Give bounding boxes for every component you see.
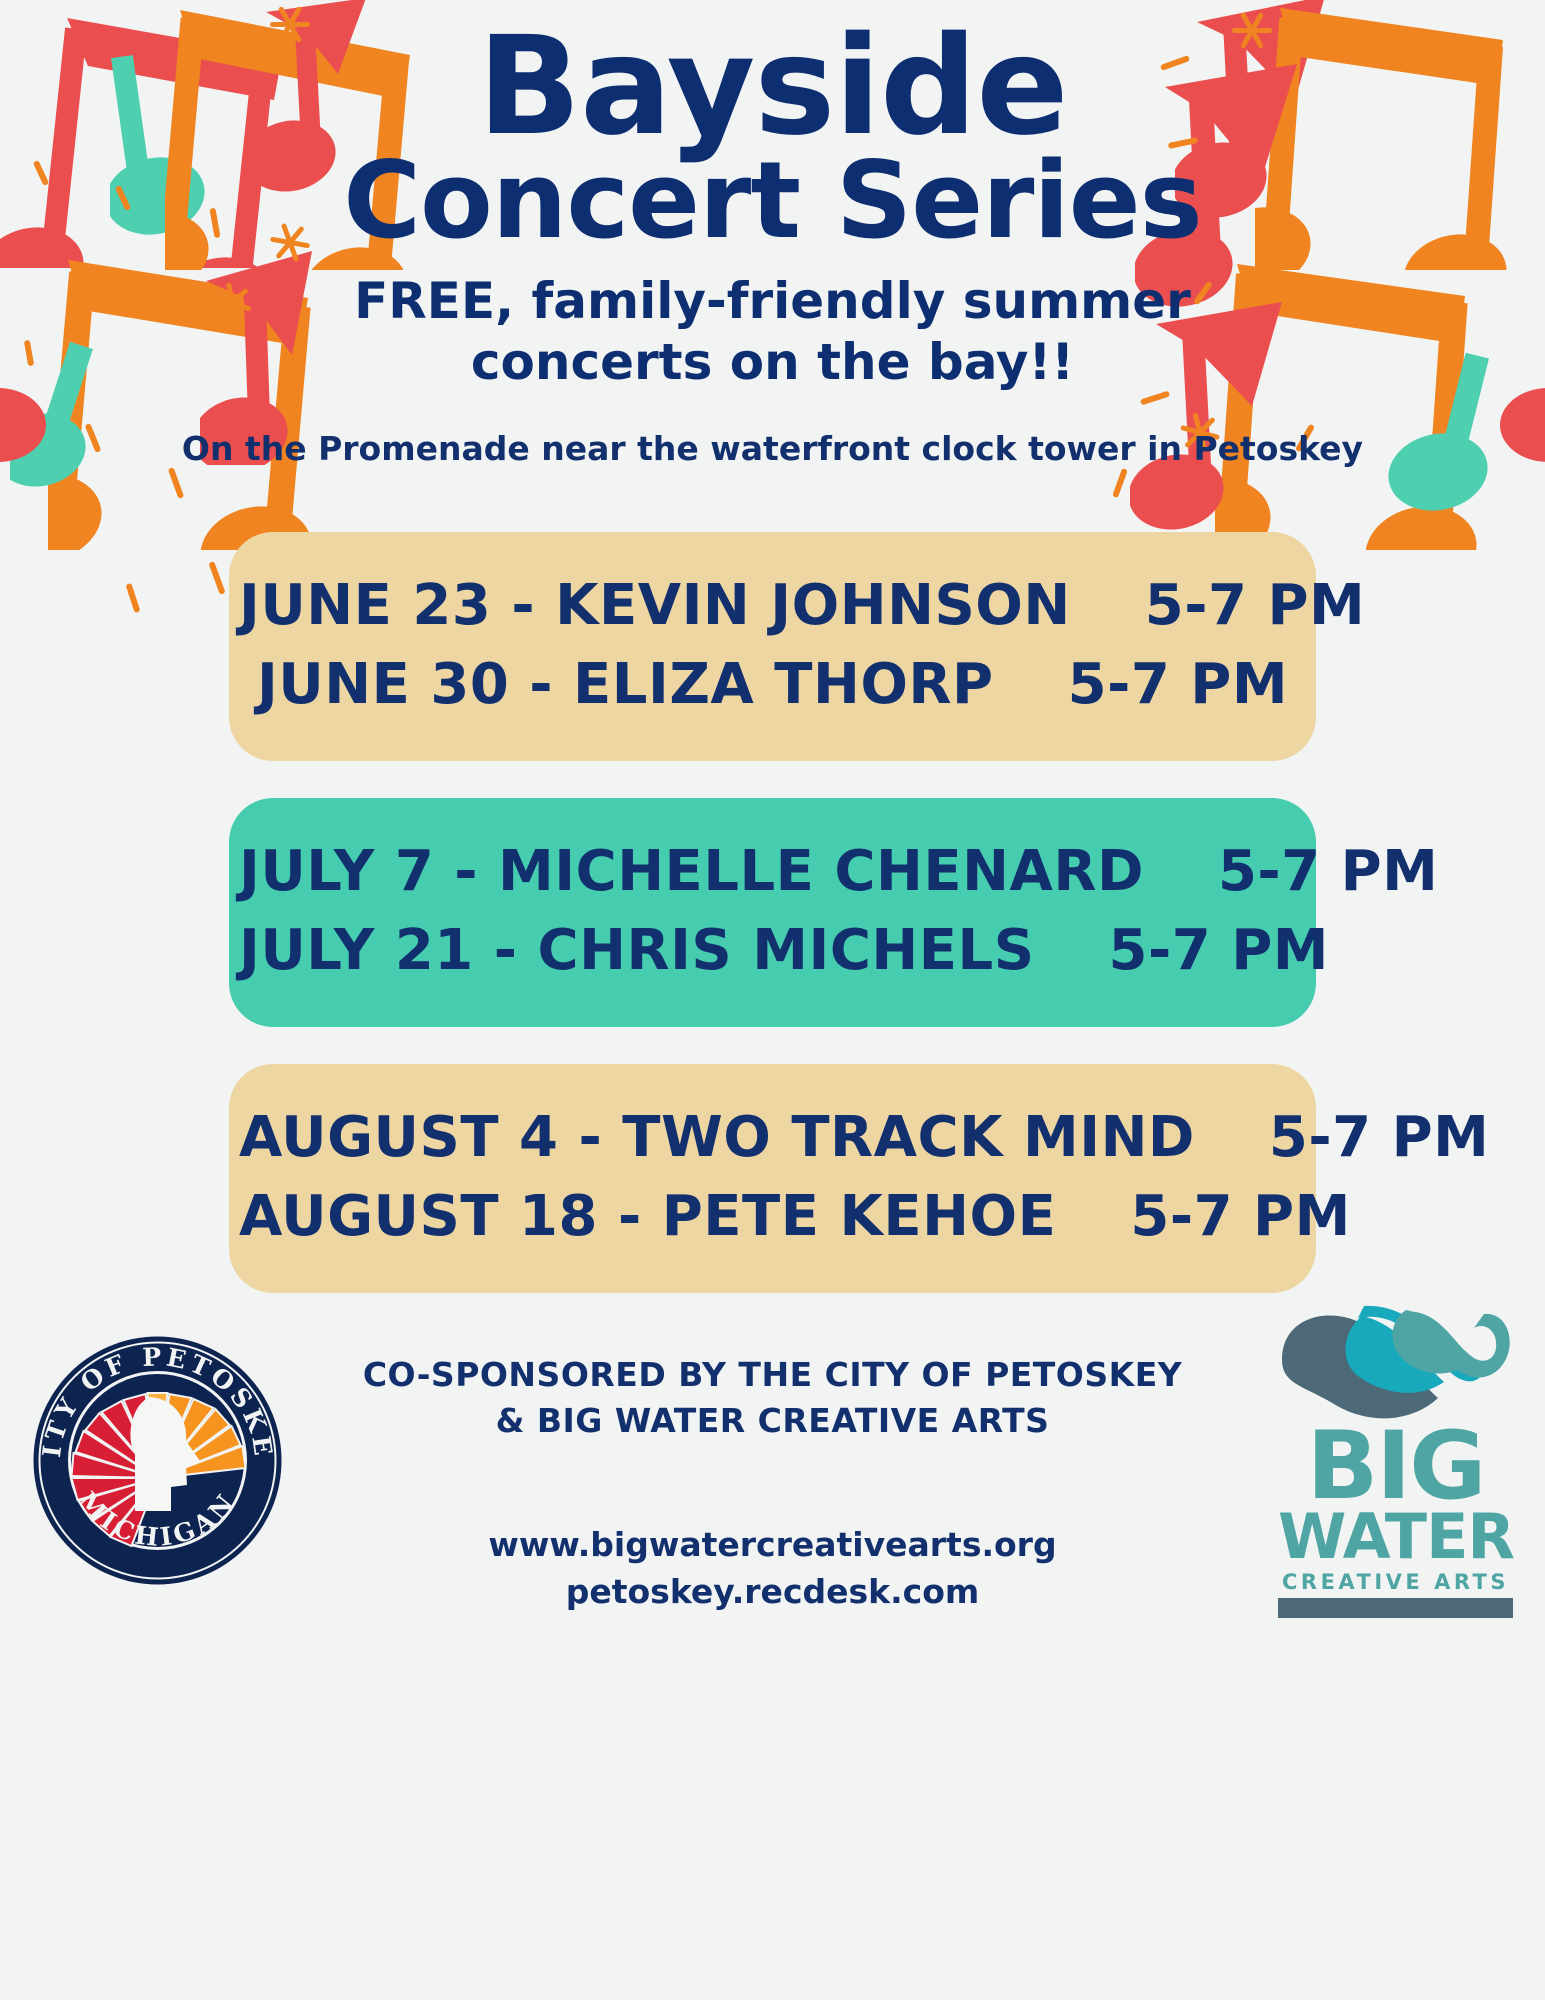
- concert-separator: -: [579, 1105, 603, 1170]
- schedule-block-august: AUGUST 4 - TWO TRACK MIND 5-7 PM AUGUST …: [229, 1064, 1316, 1293]
- concert-time: 5-7 PM: [1109, 918, 1329, 983]
- page-title-line1: Bayside: [0, 22, 1545, 153]
- big-water-wave-icon: [1278, 1300, 1513, 1428]
- schedule-row: AUGUST 18 - PETE KEHOE 5-7 PM: [239, 1177, 1306, 1257]
- schedule-row: JULY 7 - MICHELLE CHENARD 5-7 PM: [239, 832, 1306, 912]
- concert-separator: -: [454, 839, 478, 904]
- subtitle-line1: FREE, family-friendly summer: [0, 271, 1545, 332]
- concert-artist: PETE KEHOE: [662, 1184, 1057, 1249]
- concert-time: 5-7 PM: [1130, 1184, 1350, 1249]
- concert-separator: -: [511, 573, 535, 638]
- concert-separator: -: [618, 1184, 642, 1249]
- concert-separator: -: [494, 918, 518, 983]
- schedule-row: JUNE 30 - ELIZA THORP 5-7 PM: [239, 645, 1306, 725]
- concert-date: JULY 21: [239, 918, 474, 983]
- big-water-logo-word2: WATER: [1278, 1507, 1513, 1567]
- schedule-block-june: JUNE 23 - KEVIN JOHNSON 5-7 PM JUNE 30 -…: [229, 532, 1316, 761]
- concert-date: JUNE 23: [239, 573, 491, 638]
- concert-time: 5-7 PM: [1145, 573, 1365, 638]
- big-water-logo-word1: BIG: [1278, 1428, 1513, 1505]
- poster-header: Bayside Concert Series FREE, family-frie…: [0, 0, 1545, 468]
- concert-date: AUGUST 4: [239, 1105, 559, 1170]
- concert-time: 5-7 PM: [1269, 1105, 1489, 1170]
- decor-tick-7: [168, 467, 185, 499]
- concert-artist: CHRIS MICHELS: [538, 918, 1035, 983]
- schedule-row: JULY 21 - CHRIS MICHELS 5-7 PM: [239, 911, 1306, 991]
- decor-tick-15: [1112, 468, 1128, 498]
- concert-artist: KEVIN JOHNSON: [555, 573, 1071, 638]
- page-title-line2: Concert Series: [0, 147, 1545, 255]
- schedule-row: AUGUST 4 - TWO TRACK MIND 5-7 PM: [239, 1098, 1306, 1178]
- big-water-logo-tagline: CREATIVE ARTS: [1278, 1572, 1513, 1593]
- venue-text: On the Promenade near the waterfront clo…: [0, 429, 1545, 468]
- concert-time: 5-7 PM: [1218, 839, 1438, 904]
- concert-separator: -: [529, 652, 553, 717]
- schedule-row: JUNE 23 - KEVIN JOHNSON 5-7 PM: [239, 566, 1306, 646]
- concert-date: JUNE 30: [257, 652, 509, 717]
- concert-artist: MICHELLE CHENARD: [498, 839, 1144, 904]
- concert-schedule: JUNE 23 - KEVIN JOHNSON 5-7 PM JUNE 30 -…: [0, 532, 1545, 1293]
- big-water-creative-arts-logo: BIG WATER CREATIVE ARTS: [1278, 1300, 1513, 1630]
- schedule-block-july: JULY 7 - MICHELLE CHENARD 5-7 PM JULY 21…: [229, 798, 1316, 1027]
- concert-artist: TWO TRACK MIND: [622, 1105, 1195, 1170]
- concert-date: AUGUST 18: [239, 1184, 598, 1249]
- concert-time: 5-7 PM: [1068, 652, 1288, 717]
- subtitle-line2: concerts on the bay!!: [0, 332, 1545, 393]
- poster-canvas: Bayside Concert Series FREE, family-frie…: [0, 0, 1545, 2000]
- big-water-logo-bar: [1278, 1598, 1513, 1618]
- concert-date: JULY 7: [239, 839, 434, 904]
- concert-artist: ELIZA THORP: [573, 652, 994, 717]
- poster-footer: CITY OF PETOSKEY MICHIGAN CO-SPONSORED B…: [0, 1330, 1545, 1690]
